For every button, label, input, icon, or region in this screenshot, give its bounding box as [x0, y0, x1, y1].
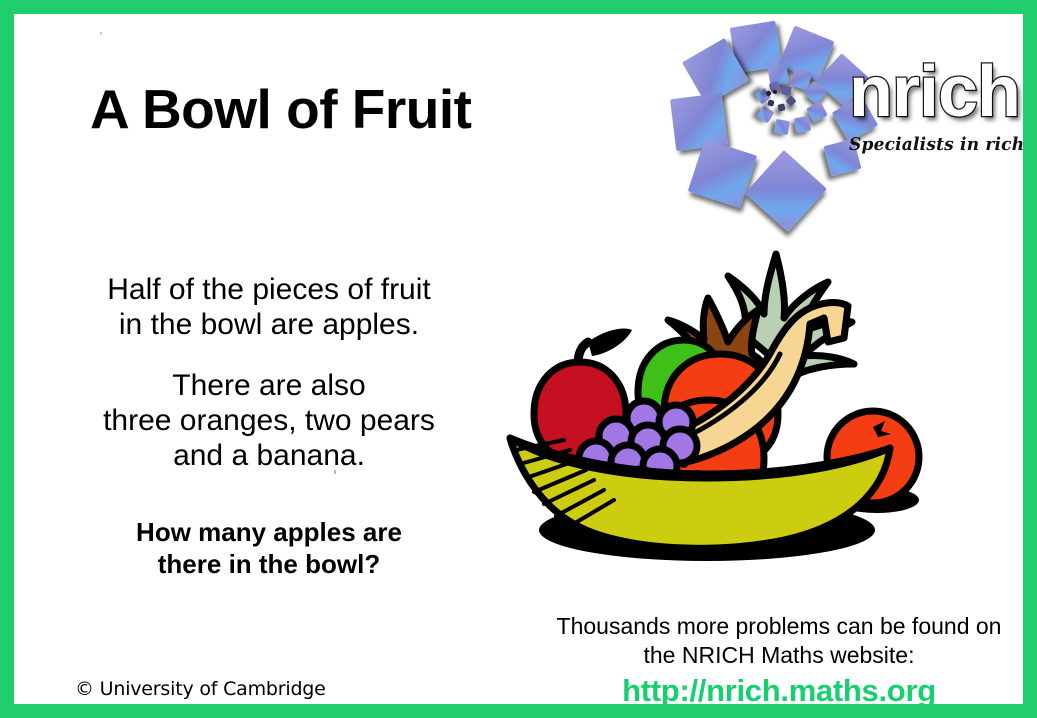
scan-artifact-speck-2: [334, 470, 336, 474]
poster-canvas: A Bowl of Fruit: [14, 14, 1023, 704]
question-line-2: there in the bowl?: [158, 549, 380, 579]
footer-note-line-1: Thousands more problems can be found on: [557, 613, 1002, 639]
problem-paragraph-1: Half of the pieces of fruit in the bowl …: [59, 272, 479, 342]
spiral-squares-icon: [669, 22, 879, 212]
problem-line-2: in the bowl are apples.: [119, 308, 419, 341]
red-apple-leaf: [588, 329, 632, 357]
question-line-1: How many apples are: [136, 517, 402, 547]
nrich-website-link[interactable]: http://nrich.maths.org: [544, 673, 1014, 704]
problem-statement: Half of the pieces of fruit in the bowl …: [59, 272, 479, 581]
problem-line-1: Half of the pieces of fruit: [107, 273, 431, 306]
problem-question: How many apples are there in the bowl?: [59, 517, 479, 581]
footer-note: Thousands more problems can be found on …: [544, 612, 1014, 671]
fruit-bowl-illustration: [492, 242, 952, 582]
problem-line-3: There are also: [172, 369, 365, 402]
copyright-notice: © University of Cambridge: [75, 678, 326, 700]
footer-note-line-2: the NRICH Maths website:: [644, 642, 915, 668]
problem-paragraph-2: There are also three oranges, two pears …: [59, 368, 479, 473]
page-title: A Bowl of Fruit: [90, 77, 472, 141]
problem-line-4: three oranges, two pears: [103, 404, 435, 437]
poster-frame: A Bowl of Fruit: [0, 0, 1037, 718]
nrich-tagline: Specialists in rich mathematics: [849, 134, 1023, 155]
problem-line-5: and a banana.: [173, 439, 365, 472]
nrich-logo: nrich Specialists in rich mathematics: [669, 22, 1009, 212]
scan-artifact-speck: [100, 32, 102, 35]
nrich-wordmark: nrich: [849, 56, 1020, 128]
